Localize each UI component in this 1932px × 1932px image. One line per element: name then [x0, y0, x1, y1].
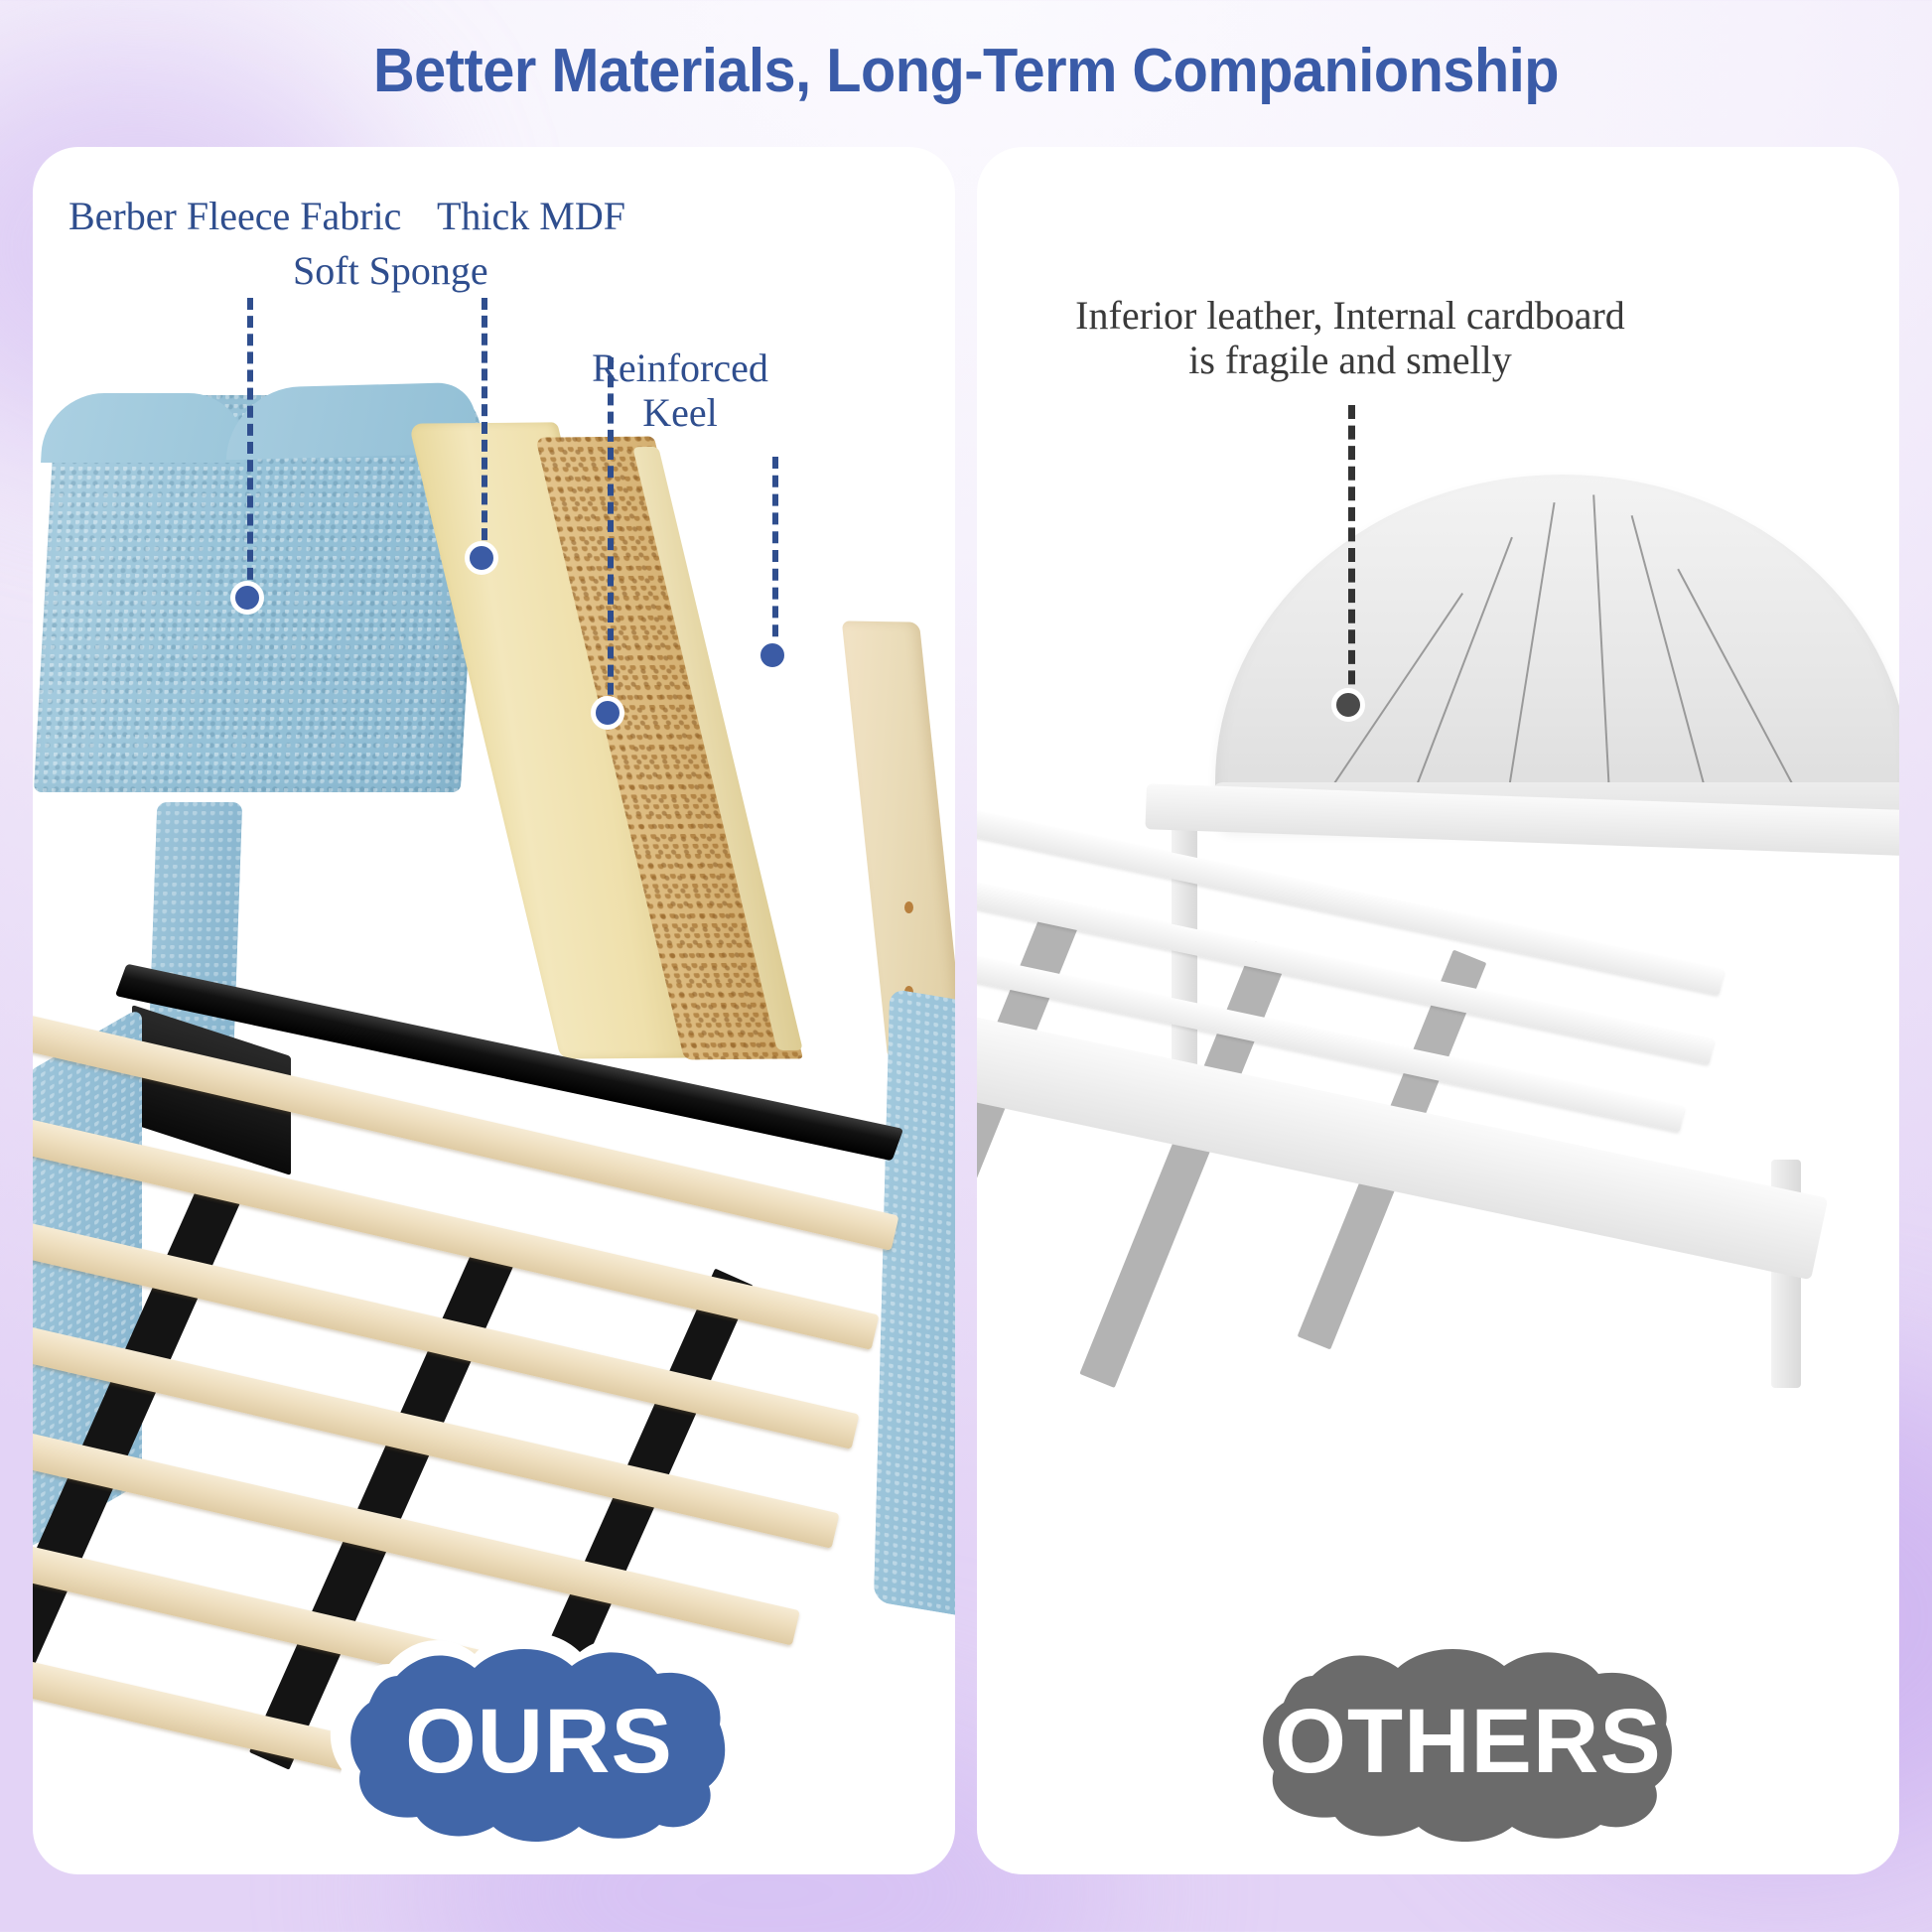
ours-bed-illustration: [33, 147, 955, 1874]
callout-dot-inferior-leather[interactable]: [1331, 688, 1365, 722]
callout-dot-keel[interactable]: [756, 638, 789, 672]
label-inferior-leather: Inferior leather, Internal cardboard is …: [1042, 294, 1658, 383]
leader-line-mdf: [482, 298, 487, 558]
headboard-bump-left: [41, 393, 248, 463]
label-soft-sponge: Soft Sponge: [293, 249, 488, 294]
label-thick-mdf: Thick MDF: [437, 195, 625, 239]
label-inferior-leather-line1: Inferior leather, Internal cardboard: [1042, 294, 1658, 339]
callout-dot-mdf[interactable]: [465, 541, 498, 575]
label-reinforced-keel-line1: Reinforced: [581, 346, 779, 391]
panel-others: Inferior leather, Internal cardboard is …: [977, 147, 1899, 1874]
shell-headboard: [1215, 475, 1899, 832]
fleece-side-rail-right: [874, 988, 955, 1618]
leader-line-fleece: [247, 298, 253, 598]
page-title: Better Materials, Long-Term Companionshi…: [68, 36, 1864, 106]
headboard-cross-section: [484, 423, 812, 1058]
keel-screw-hole-1: [904, 901, 913, 913]
callout-dot-sponge[interactable]: [591, 696, 624, 730]
panel-ours: Berber Fleece Fabric Soft Sponge Thick M…: [33, 147, 955, 1874]
label-reinforced-keel-line2: Keel: [581, 391, 779, 436]
label-berber-fleece-fabric: Berber Fleece Fabric: [69, 195, 401, 239]
badge-ours[interactable]: OURS: [326, 1630, 753, 1847]
comparison-panels: Berber Fleece Fabric Soft Sponge Thick M…: [33, 147, 1899, 1874]
callout-dot-fleece[interactable]: [230, 581, 264, 615]
label-reinforced-keel: Reinforced Keel: [581, 346, 779, 436]
leader-line-inferior-leather: [1348, 405, 1355, 705]
others-front-rail: [977, 984, 1828, 1280]
others-bed-illustration: [977, 147, 1899, 1874]
badge-others-label: OTHERS: [1235, 1630, 1702, 1847]
badge-ours-label: OURS: [326, 1630, 753, 1847]
leader-line-keel: [772, 457, 778, 655]
badge-others[interactable]: OTHERS: [1235, 1630, 1702, 1847]
label-inferior-leather-line2: is fragile and smelly: [1042, 339, 1658, 383]
